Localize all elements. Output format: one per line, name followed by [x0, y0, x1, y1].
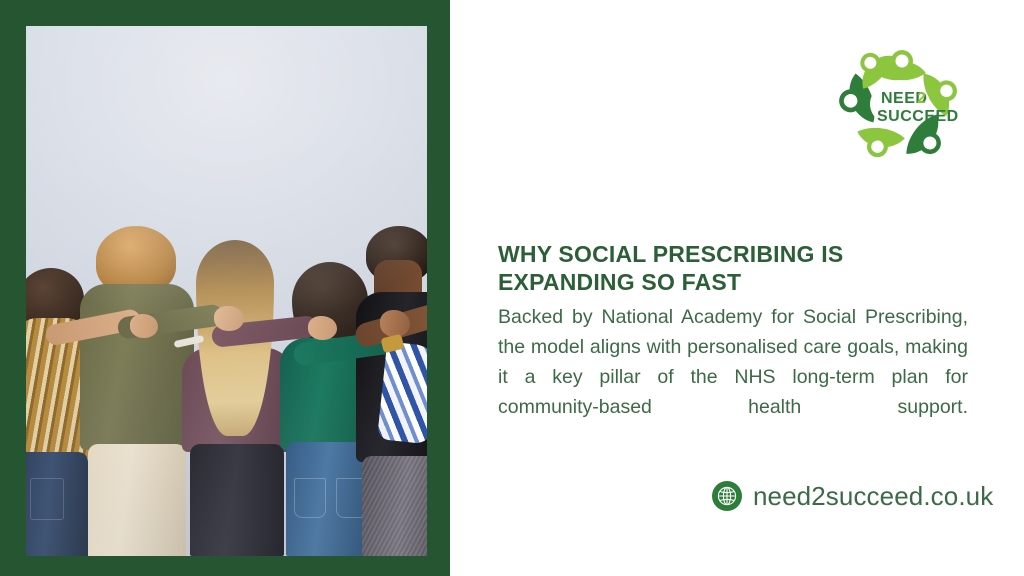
photo-linked-arms — [26, 26, 427, 556]
logo-line2: SUCCEED — [877, 108, 959, 125]
body-paragraph: Backed by National Academy for Social Pr… — [498, 302, 968, 452]
logo-accent: 2 — [917, 90, 926, 107]
hand-2 — [214, 306, 244, 331]
photo-frame — [26, 26, 427, 556]
promo-slide: NEED 2 SUCCEED WHY SOCIAL PRESCRIBING IS… — [0, 0, 1024, 576]
globe-icon — [712, 481, 742, 511]
photo-panel — [0, 0, 450, 576]
content-column: NEED 2 SUCCEED WHY SOCIAL PRESCRIBING IS… — [498, 0, 968, 576]
website-link[interactable]: need2succeed.co.uk — [712, 481, 993, 511]
hand-1 — [130, 314, 158, 338]
logo-figure-bottom — [854, 125, 906, 161]
hand-3 — [308, 316, 337, 340]
website-url-text: need2succeed.co.uk — [753, 481, 993, 511]
hand-4 — [380, 310, 410, 337]
group-photo — [26, 26, 427, 556]
striped-sleeve — [377, 341, 427, 444]
logo-graphic: NEED 2 SUCCEED — [832, 47, 968, 165]
page-title: WHY SOCIAL PRESCRIBING IS EXPANDING SO F… — [498, 240, 968, 296]
need2succeed-logo: NEED 2 SUCCEED — [832, 47, 968, 165]
bracelet — [174, 335, 205, 348]
